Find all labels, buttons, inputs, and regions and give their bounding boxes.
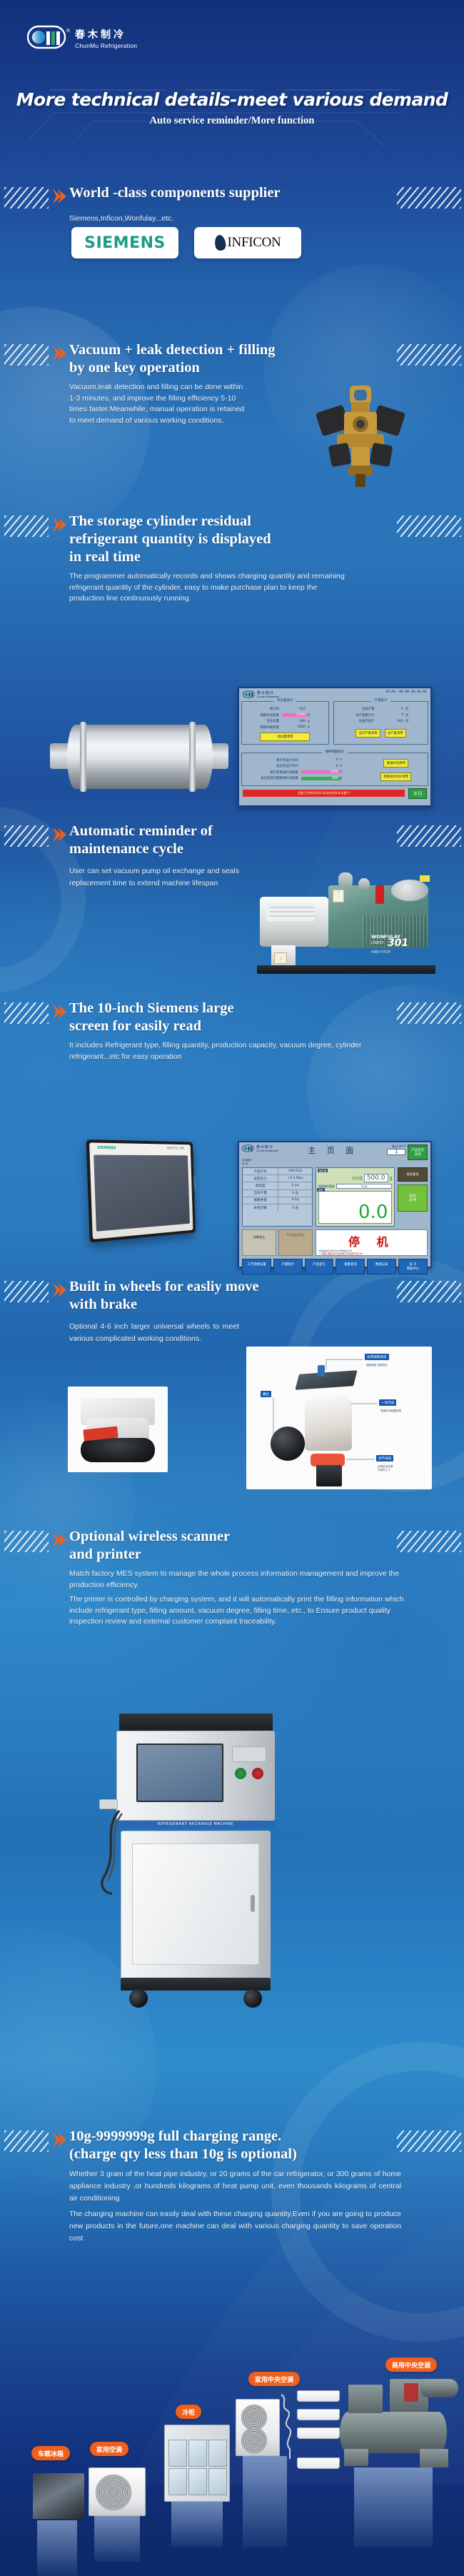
- freezer-door: [188, 2468, 207, 2495]
- hmi-page-title: 主 页 面: [308, 1144, 358, 1156]
- live-weight-value: 0.0: [358, 1203, 388, 1222]
- panel-siemens-mark: SIEMENS: [97, 1146, 116, 1151]
- section-heading-row: 10g-9999999g full charging range. (charg…: [0, 2128, 464, 2163]
- freezer-door: [208, 2440, 227, 2467]
- app-label-home-central-air-conditioner: 家用中央空调: [248, 2372, 300, 2386]
- table-row: 本批次数0 台: [243, 1204, 312, 1211]
- section-scanner-printer: Optional wireless scanner and printer Ma…: [0, 1528, 464, 1628]
- freezer-door: [168, 2440, 187, 2467]
- siemens-logo-text: SIEMENS: [84, 234, 166, 252]
- pump-base-plate: [257, 965, 435, 974]
- car-refrigerator-photo: [33, 2473, 84, 2519]
- section-heading-row: Optional wireless scanner and printer: [0, 1528, 464, 1564]
- caster-tire: [81, 1438, 155, 1462]
- banner-subtitle: Auto service reminder/More function: [0, 115, 464, 127]
- section-title-line1: Vacuum + leak detection + filling: [47, 341, 395, 359]
- hmi-main-page-screen[interactable]: 春木制冷 ChunMu Refrigeration 主 页 面 配方号 1 产品…: [238, 1141, 432, 1268]
- hatch-decor-left: [4, 1281, 49, 1302]
- section-body-p1: Match factory MES system to manage the w…: [0, 1569, 464, 1591]
- reset-total-output-button[interactable]: 总产量清零: [385, 729, 406, 738]
- load-disable-button[interactable]: 加载禁止: [242, 1229, 276, 1256]
- section-siemens-screen: The 10-inch Siemens large screen for eas…: [0, 1000, 464, 1062]
- hmi-row: 真空泵运行时间0h: [245, 758, 367, 763]
- charge-reset-button[interactable]: 加注复位: [398, 1167, 428, 1182]
- section-body: The programmer automatically records and…: [0, 571, 464, 605]
- central-ac-indoor-unit: [297, 2457, 340, 2469]
- central-ac-fan-bottom: [241, 2427, 267, 2453]
- reset-charging-total-button[interactable]: 加注量清零: [260, 733, 310, 741]
- pump-inlet-port: [338, 872, 353, 888]
- machine-base: [121, 1978, 271, 1991]
- hmi-statistics-screen[interactable]: 春木制冷 ChunMu Refrigeration 20:00 -00-00 0…: [238, 687, 432, 807]
- app-label-commercial-central-air-conditioner: 商用中央空调: [385, 2358, 437, 2372]
- tab-about-help[interactable]: 关 于 帮助中心: [398, 1259, 428, 1274]
- hatch-decor-left: [4, 2130, 49, 2152]
- hatch-decor-right: [397, 1002, 461, 1024]
- manual-charge-stop-button[interactable]: 手动加注停止: [278, 1229, 313, 1256]
- machine-cabinet-door: [132, 1843, 259, 1965]
- app-label-freezer-cabinet: 冷柜: [176, 2405, 201, 2419]
- table-row: 钢瓶余量0 kg: [243, 1197, 312, 1204]
- storage-cylinder-photo: [50, 718, 228, 796]
- central-ac-indoor-unit: [297, 2390, 340, 2402]
- machine-top-frame: [119, 1714, 273, 1732]
- charge-start-stop-button[interactable]: 加注 启/停: [398, 1184, 428, 1212]
- section-title: World -class components supplier: [47, 184, 395, 202]
- maintenance-alert-bar: 设备已到保养时间!请及时保养本设备!!!: [243, 790, 405, 797]
- pump-model-prefix: CMVD: [371, 941, 383, 945]
- pump-caution-sticker: ⚠: [274, 952, 287, 964]
- pump-yellow-tag: [420, 875, 430, 882]
- hmi-corner-note: 自动模式手 动: [242, 1158, 252, 1165]
- section-title-line2: with brake: [47, 1296, 395, 1314]
- hmi-group-charging-stats: 充注量统计 制冷剂R22 钢瓶中总质量0.000g 充注总量000g 钢瓶中剩余…: [241, 701, 329, 745]
- pump-outlet-port: [358, 878, 370, 890]
- inficon-logo-text: INFICON: [228, 235, 281, 251]
- pump-red-switch: [375, 885, 384, 904]
- caster-exploded-diagram-card: 加厚钢铁烤漆 钢板底板 坚固抗压 一体壳身 表面防涂耐磨处理 螺丝 调节按钮 优…: [246, 1347, 432, 1489]
- live-tag: 实时: [317, 1188, 325, 1192]
- vacuum-pump-photo: ⚠ ⚠ WONFULAY CMVD 301 双级旋片式真空泵: [243, 865, 446, 980]
- section-body-p1: Whether 3 gram of the heat pipe industry…: [0, 2168, 464, 2205]
- section-heading-row: World -class components supplier: [0, 184, 464, 208]
- section-title-line2: (charge qty less than 10g is optional): [47, 2145, 395, 2163]
- chevron-right-icon: [51, 345, 67, 362]
- reset-oil-change-time-button[interactable]: 换油时间清零: [383, 759, 408, 768]
- section-body-p2: The charging machine can easily deal wit…: [0, 2208, 464, 2245]
- section-title-line2: by one key operation: [47, 359, 395, 377]
- machine-control-box: [232, 1746, 266, 1762]
- table-row: 产品代号500-R22: [243, 1168, 312, 1175]
- tab-data-records[interactable]: 数据记录: [367, 1259, 396, 1274]
- central-ac-indoor-unit: [297, 2427, 340, 2439]
- caster-photo-card: [68, 1387, 168, 1472]
- home-ac-fan-grille: [96, 2475, 131, 2510]
- panel-model-mark: SIMATIC HMI: [167, 1147, 185, 1150]
- valve-fitting-photo: [308, 378, 415, 493]
- section-heading-row: Automatic reminder of maintenance cycle: [0, 822, 464, 858]
- section-built-in-wheels: Built in wheels for easliy move with bra…: [0, 1278, 464, 1345]
- residual-value: 0 pa: [336, 1184, 393, 1189]
- chiller-control-panel: [404, 2383, 418, 2402]
- central-ac-fan-top: [241, 2405, 267, 2430]
- table-row: 真空度0 pa: [243, 1182, 312, 1189]
- group-title: 保养周期统计: [322, 750, 348, 754]
- setpoint-unit: g: [390, 1176, 393, 1181]
- tab-output-stats[interactable]: 产量统计: [273, 1259, 303, 1274]
- hatch-decor-right: [397, 1531, 461, 1552]
- hatch-decor-right: [397, 2130, 461, 2152]
- setpoint-label: 设定值: [352, 1176, 363, 1181]
- hmi-clock: 20:00 -00-00 00:00:00: [385, 690, 427, 694]
- hatch-decor-right: [397, 187, 461, 208]
- section-title-line2: refrigerant quantity is displayed: [47, 530, 395, 548]
- reset-seal-change-time-button[interactable]: 更换密封时间清零: [380, 773, 411, 781]
- machine-caster-right: [243, 1989, 262, 2008]
- section-title-line1: The 10-inch Siemens large: [47, 1000, 395, 1017]
- chiller-base-right: [420, 2449, 448, 2467]
- freezer-door: [188, 2440, 207, 2467]
- section-title-line1: 10g-9999999g full charging range.: [47, 2128, 395, 2145]
- status-note-line2: **请确认钢瓶内有足够的制冷剂后再开始工作**: [319, 1252, 364, 1255]
- section-charging-range: 10g-9999999g full charging range. (charg…: [0, 2128, 464, 2245]
- machine-side-port: [99, 1799, 118, 1809]
- app-light-beam: [243, 2456, 287, 2547]
- hmi-row: 钢瓶中剩余量0000g: [245, 725, 326, 730]
- machine-green-button[interactable]: [235, 1768, 246, 1779]
- app-label-car-refrigerator: 车载冰箱: [31, 2446, 70, 2460]
- chevron-right-icon: [51, 1531, 67, 1549]
- tab-alarm-query[interactable]: 报警查询: [336, 1259, 365, 1274]
- section-title-line2: maintenance cycle: [47, 840, 395, 858]
- hmi-clock: 2021-1-1 12:21:11: [400, 1144, 427, 1147]
- section-title-line1: Built in wheels for easliy move: [47, 1278, 395, 1296]
- chiller-compressor-left: [348, 2385, 383, 2413]
- hatch-decor-right: [397, 1281, 461, 1302]
- section-heading-row: The 10-inch Siemens large screen for eas…: [0, 1000, 464, 1035]
- pump-model-note: 双级旋片式真空泵: [371, 950, 390, 953]
- panel-touch-mark: TOUCH: [192, 1175, 197, 1189]
- app-light-beam: [354, 2467, 433, 2547]
- hmi-row: 钢瓶中总质量0.000g: [245, 713, 326, 718]
- hmi-brand-logo: 春木制冷 ChunMu Refrigeration: [242, 1144, 278, 1152]
- banner: More technical details-meet various dema…: [0, 89, 464, 127]
- hmi-row: 设备内运行000台: [337, 719, 425, 723]
- tab-process-params[interactable]: 工艺参数设置: [242, 1259, 271, 1274]
- hatch-decor-right: [397, 344, 461, 366]
- section-body: It includes Refrigerant type, filling qu…: [0, 1040, 464, 1062]
- hatch-decor-right: [397, 515, 461, 537]
- chiller-main-tank: [340, 2412, 447, 2453]
- application-commercial-central-air-conditioner: 商用中央空调: [336, 2363, 464, 2547]
- hatch-decor-left: [4, 825, 49, 847]
- section-residual-quantity: The storage cylinder residual refrigeran…: [0, 513, 464, 605]
- hatch-decor-left: [4, 1002, 49, 1024]
- freezer-cabinet-photo: [164, 2425, 230, 2502]
- machine-door-handle[interactable]: [251, 1895, 255, 1912]
- app-light-beam: [94, 2516, 140, 2562]
- machine-status-word: 停 机: [348, 1235, 395, 1249]
- hmi-header: 春木制冷 ChunMu Refrigeration 20:00 -00-00 0…: [239, 688, 430, 699]
- hmi-row: 总产量累计计0台: [337, 713, 425, 718]
- section-body: Optional 4-6 inch larger universal wheel…: [0, 1321, 464, 1345]
- reset-daily-output-button[interactable]: 当日产量清零: [355, 729, 380, 738]
- hmi-brand-en: ChunMu Refrigeration: [256, 1149, 278, 1152]
- inficon-drop-icon: [213, 234, 226, 251]
- chevron-right-icon: [51, 826, 67, 843]
- section-title-line1: Automatic reminder of: [47, 822, 395, 840]
- table-row: 当日产量0 台: [243, 1190, 312, 1197]
- brand-logo: ® 春木制冷 ChunMu Refrigeration: [27, 24, 137, 51]
- hmi-row: 高压泵运行时间0h: [245, 764, 367, 768]
- machine-caster-left: [129, 1989, 148, 2008]
- machine-red-button[interactable]: [252, 1768, 263, 1779]
- supplier-logo-cards: SIEMENS INFICON: [71, 227, 301, 258]
- siemens-logo-card: SIEMENS: [71, 227, 178, 258]
- chevron-right-icon: [51, 2131, 67, 2148]
- section-body: Siemens,Inficon,Wonfulay...etc.: [0, 213, 464, 225]
- central-ac-pipe-lines: [278, 2390, 300, 2462]
- hatch-decor-left: [4, 187, 49, 208]
- hmi-group-maintenance-stats: 保养周期统计 真空泵运行时间0h 高压泵运行时间0h 真空泵换油时间提醒1000…: [241, 753, 428, 786]
- hatch-decor-left: [4, 515, 49, 537]
- hmi-group-output-stats: 产量统计 当日产量0台 总产量累计计0台 设备内运行000台 当日产量清零 总产…: [333, 701, 428, 745]
- hmi-row: 高压泵密封圈更换时间提醒800h: [245, 776, 367, 780]
- setpoint-tag: 设定值: [318, 1169, 328, 1172]
- panel-display-area: [94, 1155, 190, 1232]
- chevron-right-icon: [51, 188, 67, 205]
- group-title: 产量统计: [371, 698, 390, 703]
- cylinder-band-right: [189, 722, 196, 792]
- chiller-base-left: [344, 2449, 368, 2466]
- hmi-row: 当日产量0台: [337, 707, 425, 711]
- section-title-line2: screen for easily read: [47, 1017, 395, 1035]
- section-title-line1: The storage cylinder residual: [47, 513, 395, 530]
- spec-table: 产品代号500-R22 设定压力+0.0 Mpa 真空度0 pa 当日产量0 台…: [242, 1167, 313, 1227]
- section-heading-row: The storage cylinder residual refrigeran…: [0, 513, 464, 566]
- section-title-line1: Optional wireless scanner: [47, 1528, 395, 1546]
- chevron-right-icon: [51, 1282, 67, 1299]
- app-label-home-air-conditioner: 家用空调: [90, 2442, 128, 2456]
- return-button[interactable]: 返 回: [408, 788, 427, 799]
- section-heading-row: Built in wheels for easliy move with bra…: [0, 1278, 464, 1314]
- banner-title: More technical details-meet various dema…: [0, 89, 464, 110]
- section-heading-row: Vacuum + leak detection + filling by one…: [0, 341, 464, 377]
- hatch-decor-left: [4, 1531, 49, 1552]
- machine-hose-bundle: [95, 1809, 123, 1895]
- section-title-line3: in real time: [47, 548, 395, 566]
- pump-warning-sticker: ⚠: [333, 890, 344, 902]
- section-body-p2: The printer is controlled by charging sy…: [0, 1594, 464, 1628]
- svg-text:®: ®: [66, 28, 70, 34]
- tab-product-model[interactable]: 产品型号: [305, 1259, 334, 1274]
- hmi-row: 充注总量000g: [245, 719, 326, 723]
- hmi-brand-cn: 春木制冷: [257, 690, 279, 695]
- freezer-door: [208, 2468, 227, 2495]
- setpoint-value[interactable]: 500.0: [364, 1174, 388, 1182]
- table-row: 设定压力+0.0 Mpa: [243, 1175, 312, 1182]
- inficon-logo-mark: INFICON: [215, 235, 281, 251]
- hmi-row: 真空泵换油时间提醒1000h: [245, 770, 367, 775]
- central-ac-indoor-unit: [297, 2409, 340, 2420]
- chiller-upper-vessel: [420, 2379, 458, 2398]
- inficon-logo-card: INFICON: [194, 227, 301, 258]
- machine-brand-banner: REFRIGERANT RECHARGE MACHINE: [116, 1821, 275, 1828]
- section-title-line2: and printer: [47, 1546, 395, 1564]
- cylinder-band-left: [80, 722, 86, 792]
- brand-name-cn: 春木制冷: [75, 27, 137, 41]
- application-freezer-cabinet: 冷柜: [158, 2405, 237, 2547]
- hmi-brand-cn: 春木制冷: [256, 1144, 278, 1149]
- chevron-right-icon: [51, 516, 67, 533]
- pump-motor-nameplate: [267, 902, 314, 921]
- hatch-decor-right: [397, 825, 461, 847]
- app-light-beam: [37, 2520, 77, 2576]
- chevron-right-icon: [51, 1003, 67, 1020]
- application-car-refrigerator: 车载冰箱: [21, 2456, 79, 2547]
- charging-machine-photo: REFRIGERANT RECHARGE MACHINE: [89, 1714, 303, 2021]
- recipe-no-value[interactable]: 1: [387, 1149, 405, 1155]
- pump-oil-sight-glass: [391, 880, 428, 901]
- brand-name-en: ChunMu Refrigeration: [75, 42, 137, 49]
- machine-hmi-screen: [136, 1744, 223, 1802]
- application-home-air-conditioner: 家用空调: [84, 2442, 156, 2547]
- hatch-decor-left: [4, 344, 49, 366]
- hmi-row: 制冷剂R22: [245, 707, 326, 711]
- pump-model-number: 301: [388, 937, 408, 949]
- app-light-beam: [171, 2502, 223, 2547]
- siemens-hmi-hardware: SIEMENS SIMATIC HMI TOUCH: [86, 1139, 196, 1243]
- cm-logo-icon: ®: [27, 24, 70, 51]
- group-title: 充注量统计: [274, 698, 296, 703]
- freezer-door: [168, 2468, 187, 2495]
- application-home-central-air-conditioner: 家用中央空调: [236, 2378, 350, 2547]
- section-components-supplier: World -class components supplier Siemens…: [0, 184, 464, 225]
- caster-leader-lines: [246, 1347, 432, 1489]
- hmi-brand-logo: 春木制冷 ChunMu Refrigeration: [243, 690, 279, 698]
